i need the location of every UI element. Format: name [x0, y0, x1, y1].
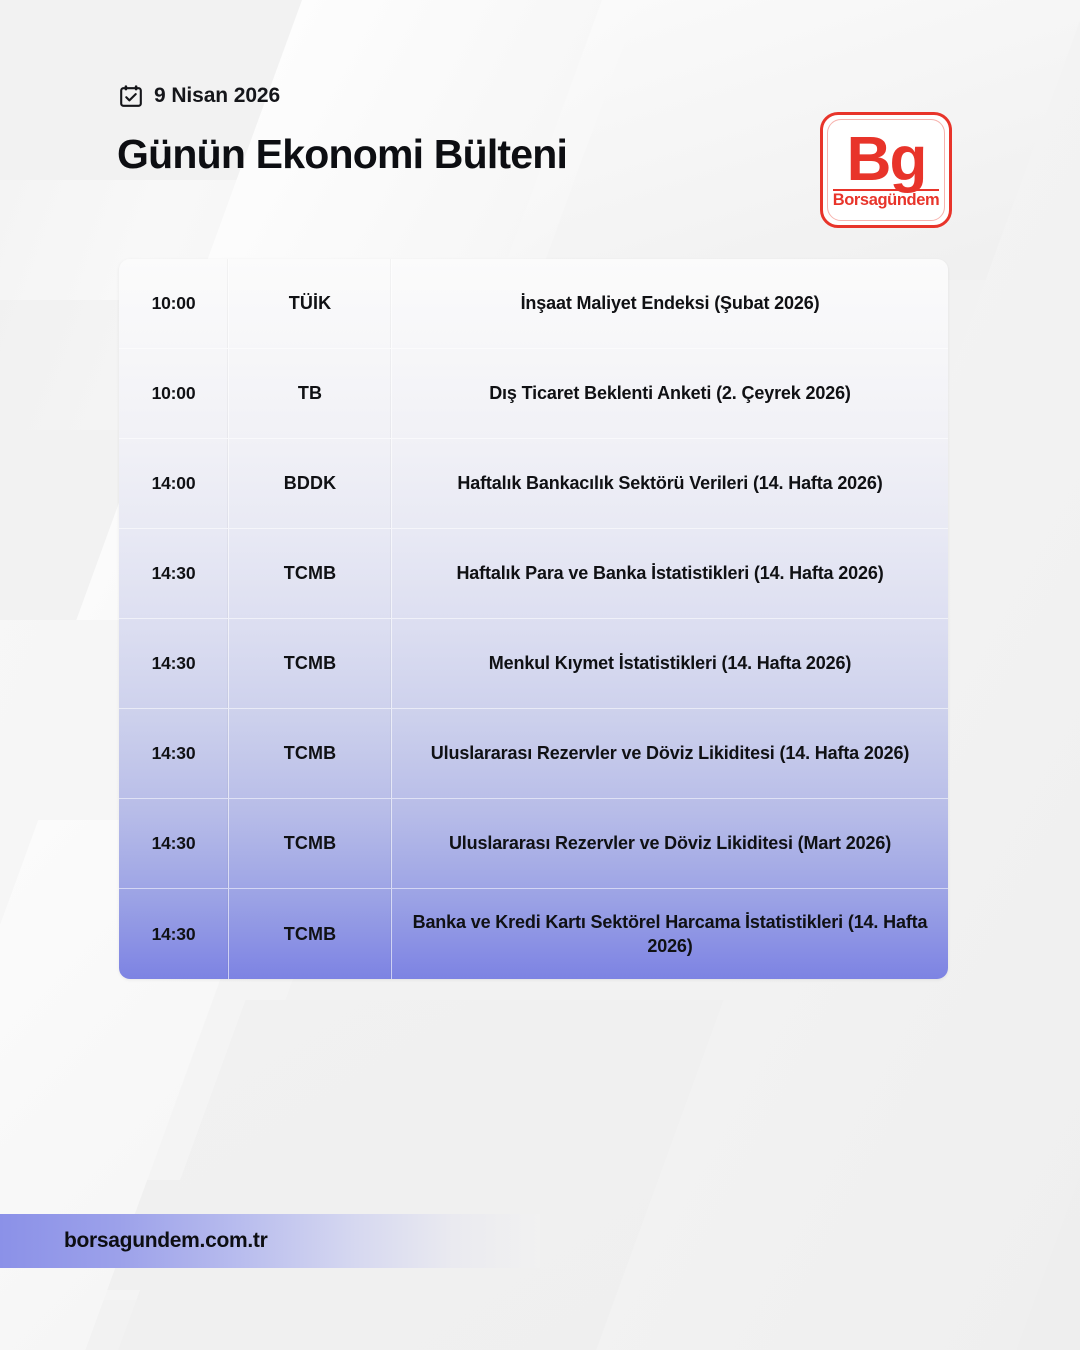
row-title: Haftalık Bankacılık Sektörü Verileri (14…	[392, 439, 948, 528]
bulletin-date: 9 Nisan 2026	[154, 84, 280, 108]
row-title: Banka ve Kredi Kartı Sektörel Harcama İs…	[392, 889, 948, 979]
brand-logo[interactable]: Bg Borsagündem	[820, 112, 952, 228]
row-source: TB	[229, 349, 392, 438]
row-source: TCMB	[229, 709, 392, 798]
table-row: 14:30TCMBHaftalık Para ve Banka İstatist…	[119, 529, 948, 619]
table-row: 14:00BDDKHaftalık Bankacılık Sektörü Ver…	[119, 439, 948, 529]
row-title: Uluslararası Rezervler ve Döviz Likidite…	[392, 709, 948, 798]
page-title: Günün Ekonomi Bülteni	[117, 129, 757, 179]
row-time: 14:30	[119, 799, 229, 888]
row-time: 14:30	[119, 529, 229, 618]
row-source: BDDK	[229, 439, 392, 528]
poster-canvas: 9 Nisan 2026 Günün Ekonomi Bülteni Bg Bo…	[0, 0, 1080, 1350]
row-time: 14:30	[119, 619, 229, 708]
date-row: 9 Nisan 2026	[119, 84, 280, 108]
row-time: 14:30	[119, 889, 229, 979]
row-title: Dış Ticaret Beklenti Anketi (2. Çeyrek 2…	[392, 349, 948, 438]
row-time: 14:00	[119, 439, 229, 528]
footer-website-url[interactable]: borsagundem.com.tr	[64, 1229, 267, 1253]
row-title: Uluslararası Rezervler ve Döviz Likidite…	[392, 799, 948, 888]
economic-calendar-table: 10:00TÜİKİnşaat Maliyet Endeksi (Şubat 2…	[119, 259, 948, 979]
logo-wordmark: Borsagündem	[833, 189, 940, 209]
row-source: TCMB	[229, 619, 392, 708]
table-row: 10:00TÜİKİnşaat Maliyet Endeksi (Şubat 2…	[119, 259, 948, 349]
row-source: TCMB	[229, 529, 392, 618]
row-time: 10:00	[119, 349, 229, 438]
table-row: 14:30TCMBUluslararası Rezervler ve Döviz…	[119, 709, 948, 799]
row-title: Menkul Kıymet İstatistikleri (14. Hafta …	[392, 619, 948, 708]
table-row: 14:30TCMBBanka ve Kredi Kartı Sektörel H…	[119, 889, 948, 979]
row-source: TCMB	[229, 799, 392, 888]
table-row: 14:30TCMBUluslararası Rezervler ve Döviz…	[119, 799, 948, 889]
logo-mark: Bg	[847, 133, 926, 186]
row-title: İnşaat Maliyet Endeksi (Şubat 2026)	[392, 259, 948, 348]
row-source: TÜİK	[229, 259, 392, 348]
table-row: 14:30TCMBMenkul Kıymet İstatistikleri (1…	[119, 619, 948, 709]
calendar-check-icon	[119, 84, 143, 108]
table-row: 10:00TBDış Ticaret Beklenti Anketi (2. Ç…	[119, 349, 948, 439]
row-time: 10:00	[119, 259, 229, 348]
row-title: Haftalık Para ve Banka İstatistikleri (1…	[392, 529, 948, 618]
row-time: 14:30	[119, 709, 229, 798]
row-source: TCMB	[229, 889, 392, 979]
